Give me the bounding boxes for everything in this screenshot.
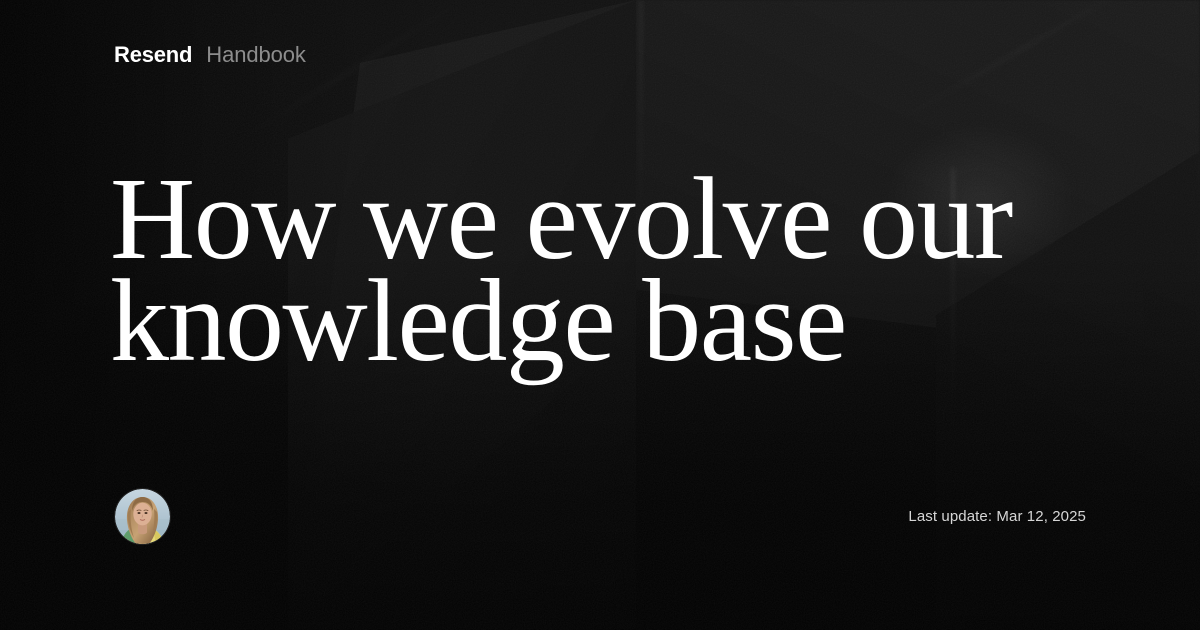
header: Resend Handbook xyxy=(114,44,306,66)
author-avatar[interactable] xyxy=(115,489,170,544)
page-title-line-2: knowledge base xyxy=(110,270,1070,372)
og-card: Resend Handbook How we evolve our knowle… xyxy=(0,0,1200,630)
section-label-handbook[interactable]: Handbook xyxy=(206,44,306,66)
page-title: How we evolve our knowledge base xyxy=(110,168,1070,372)
cube-edge-diagonal-right xyxy=(880,0,1167,132)
brand-logo-resend[interactable]: Resend xyxy=(114,44,192,66)
cube-edge-diagonal-left xyxy=(221,0,476,152)
avatar-portrait-icon xyxy=(115,489,170,544)
last-update-label: Last update: Mar 12, 2025 xyxy=(908,508,1086,525)
